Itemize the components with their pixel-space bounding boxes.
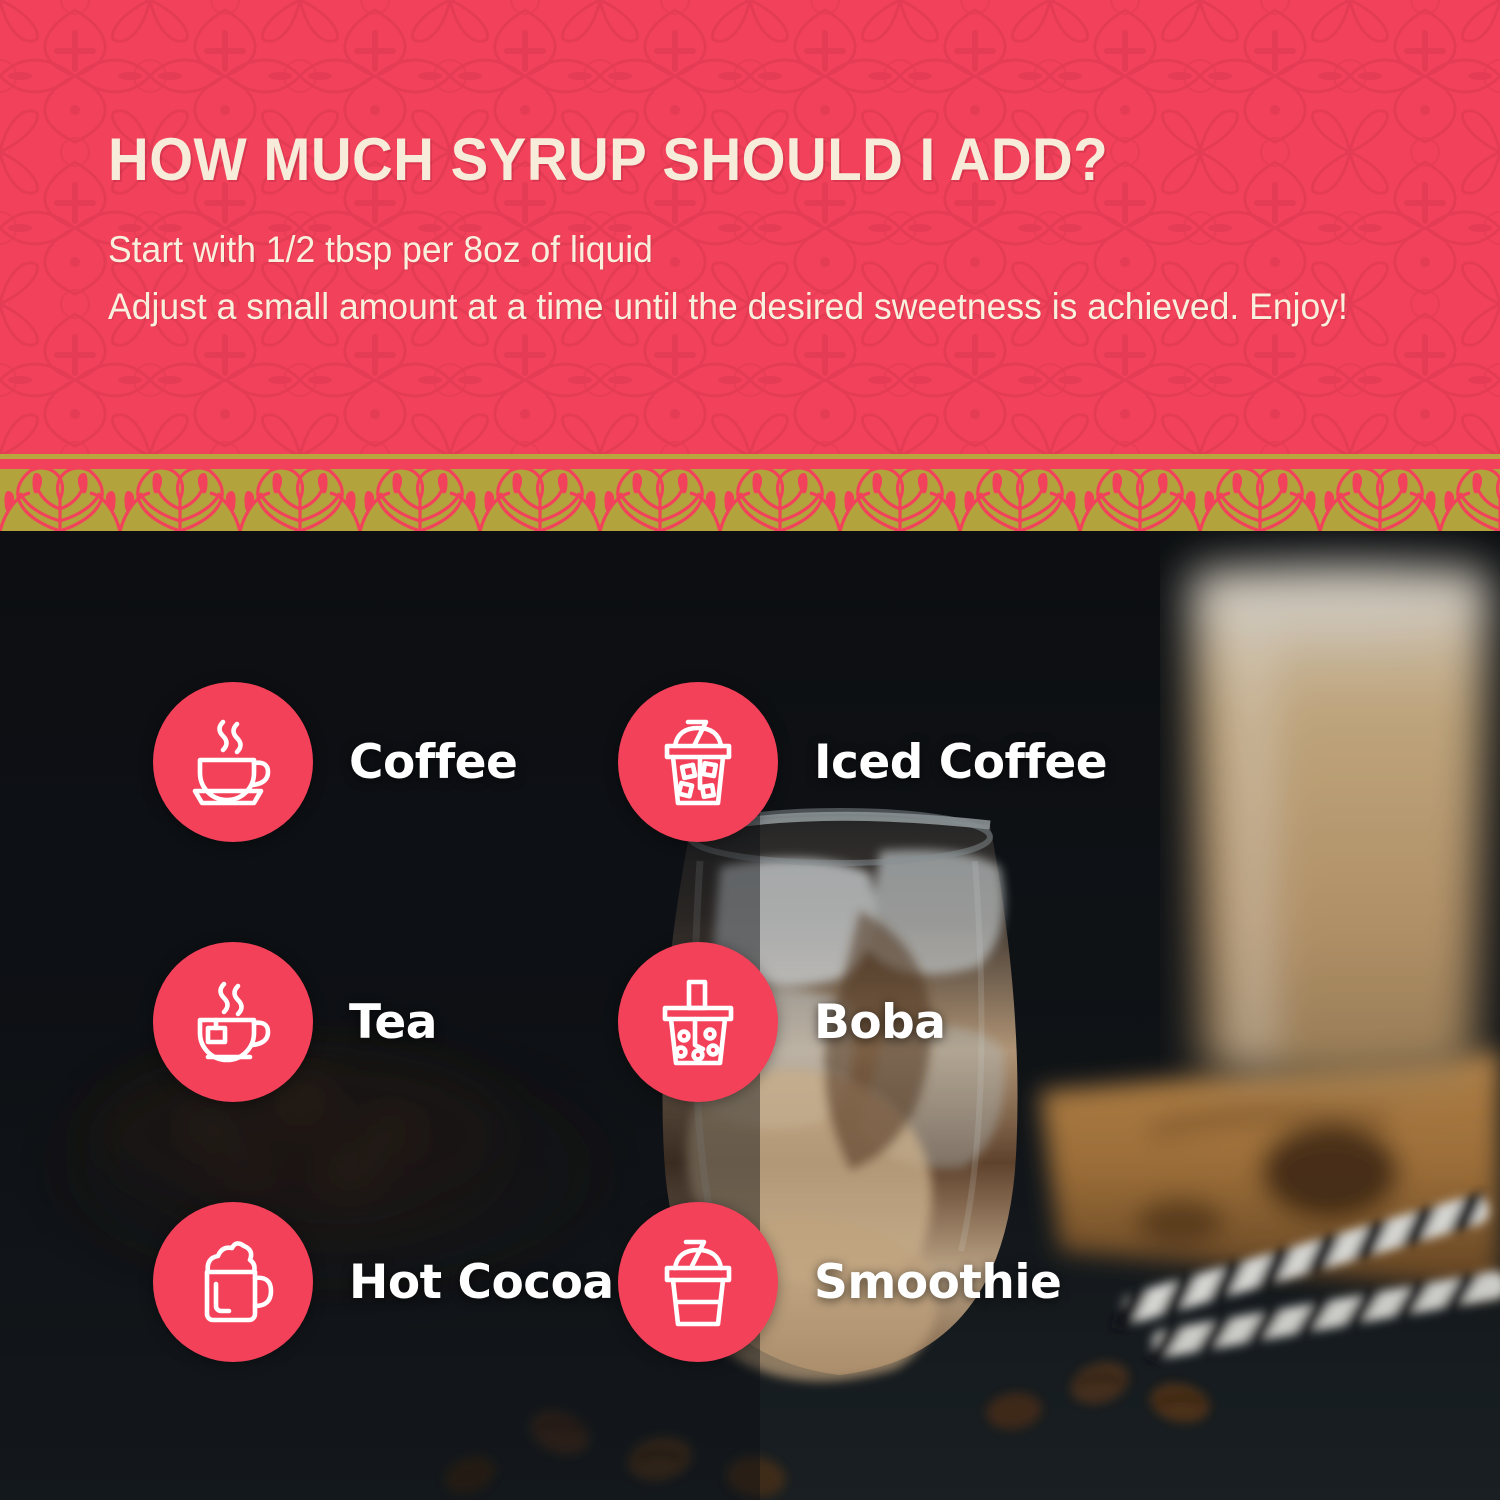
- ornament-band: [0, 469, 1500, 531]
- list-item-label: Smoothie: [814, 1255, 1061, 1310]
- smoothie-cup-icon: [648, 1232, 748, 1332]
- paisley-border-pattern: [0, 469, 1500, 531]
- list-item-label: Hot Cocoa: [349, 1255, 614, 1310]
- list-item-tea[interactable]: Tea: [153, 942, 437, 1102]
- list-item-label: Boba: [814, 995, 945, 1050]
- list-item-coffee[interactable]: Coffee: [153, 682, 517, 842]
- header-panel: HOW MUCH SYRUP SHOULD I ADD? Start with …: [0, 0, 1500, 456]
- beverage-list: Coffee Iced Coffee: [0, 531, 1500, 1500]
- list-item-boba[interactable]: Boba: [618, 942, 945, 1102]
- hot-cocoa-mug-icon: [183, 1232, 283, 1332]
- page-title: HOW MUCH SYRUP SHOULD I ADD?: [108, 128, 1358, 191]
- pink-strip: [0, 459, 1500, 469]
- tea-badge[interactable]: [153, 942, 313, 1102]
- list-item-label: Coffee: [349, 735, 517, 790]
- coffee-cup-icon: [183, 712, 283, 812]
- hot-cocoa-badge[interactable]: [153, 1202, 313, 1362]
- tea-cup-icon: [183, 972, 283, 1072]
- coffee-badge[interactable]: [153, 682, 313, 842]
- list-item-hot-cocoa[interactable]: Hot Cocoa: [153, 1202, 614, 1362]
- instruction-line-1: Start with 1/2 tbsp per 8oz of liquid: [108, 221, 1385, 278]
- boba-cup-icon: [648, 972, 748, 1072]
- iced-coffee-cup-icon: [648, 712, 748, 812]
- instruction-line-2: Adjust a small amount at a time until th…: [108, 278, 1385, 335]
- boba-badge[interactable]: [618, 942, 778, 1102]
- infographic-page: HOW MUCH SYRUP SHOULD I ADD? Start with …: [0, 0, 1500, 1500]
- list-item-label: Tea: [349, 995, 437, 1050]
- list-item-label: Iced Coffee: [814, 735, 1107, 790]
- iced-coffee-badge[interactable]: [618, 682, 778, 842]
- header-text-block: HOW MUCH SYRUP SHOULD I ADD? Start with …: [108, 128, 1438, 336]
- list-item-iced-coffee[interactable]: Iced Coffee: [618, 682, 1107, 842]
- list-item-smoothie[interactable]: Smoothie: [618, 1202, 1061, 1362]
- smoothie-badge[interactable]: [618, 1202, 778, 1362]
